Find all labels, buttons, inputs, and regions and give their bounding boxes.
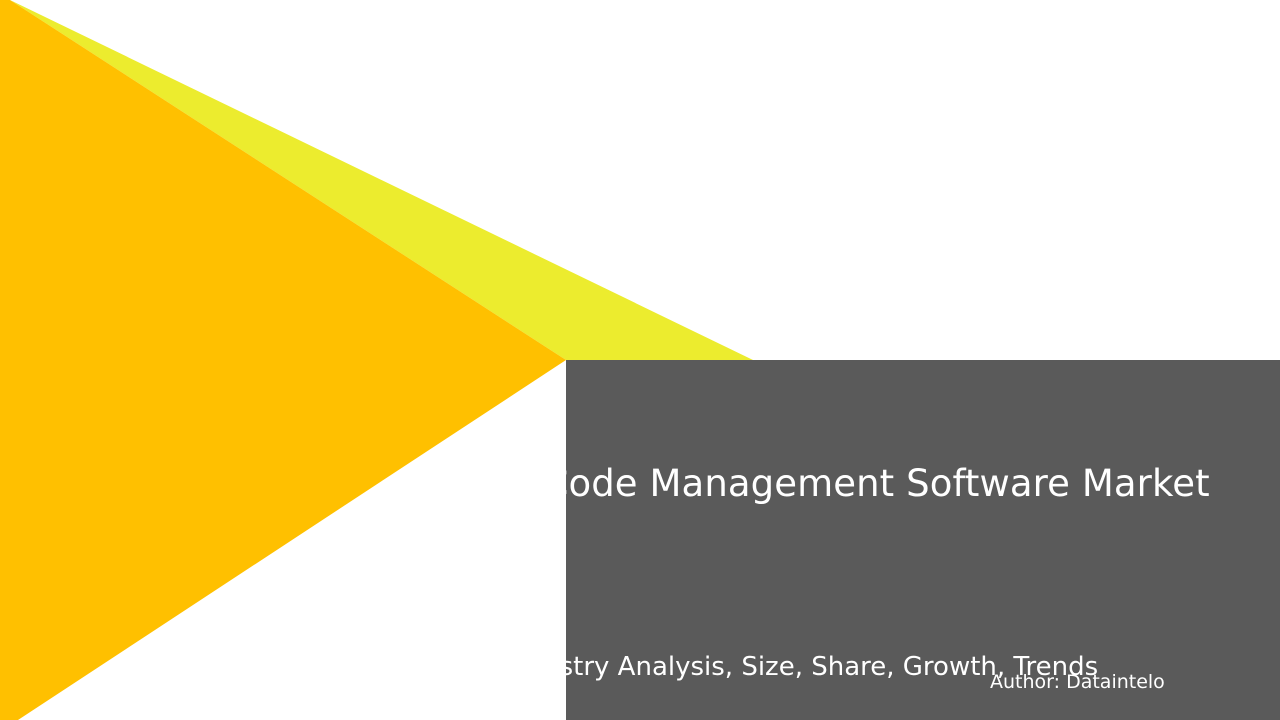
cover-text-layer: Source Code Management Software Market G… <box>0 0 1280 720</box>
page-title: Source Code Management Software Market <box>403 463 1253 506</box>
report-cover: Source Code Management Software Market G… <box>0 0 1280 720</box>
author-credit: Author: Dataintelo <box>990 671 1165 693</box>
